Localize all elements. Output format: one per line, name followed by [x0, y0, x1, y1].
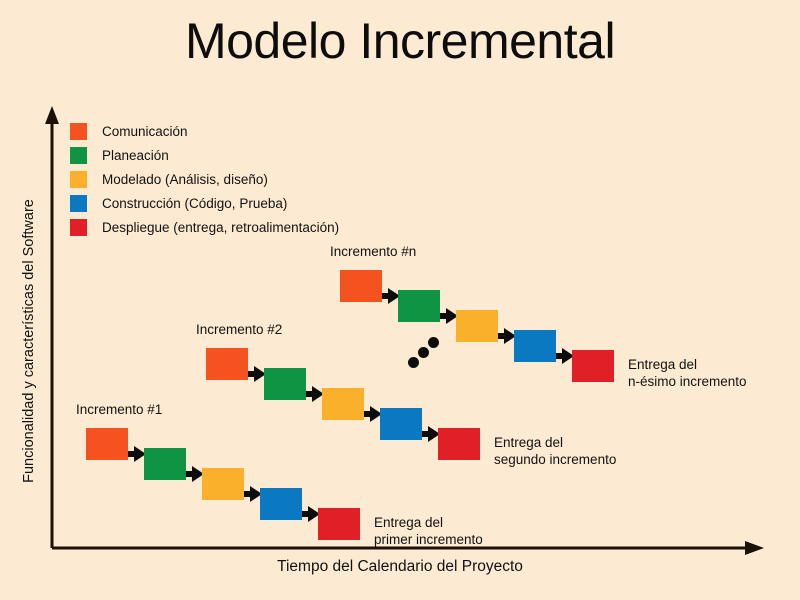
- legend-swatch-despliegue: [70, 219, 87, 236]
- ellipsis-dot-2: [418, 347, 429, 358]
- delivery-label-line1: Entrega del: [628, 356, 747, 373]
- phase-box: [206, 348, 248, 380]
- legend-swatch-modelado: [70, 171, 87, 188]
- y-axis-label: Funcionalidad y características del Soft…: [21, 161, 37, 521]
- legend-swatch-planeacion: [70, 147, 87, 164]
- x-axis-label: Tiempo del Calendario del Proyecto: [100, 558, 700, 576]
- phase-box: [572, 350, 614, 382]
- phase-box: [514, 330, 556, 362]
- legend-item-planeacion: Planeación: [70, 143, 339, 167]
- delivery-label: Entrega delprimer incremento: [374, 514, 483, 549]
- legend-item-construccion: Construcción (Código, Prueba): [70, 191, 339, 215]
- legend-item-modelado: Modelado (Análisis, diseño): [70, 167, 339, 191]
- legend: Comunicación Planeación Modelado (Anális…: [70, 119, 339, 239]
- legend-label-planeacion: Planeación: [102, 148, 169, 163]
- delivery-label-line1: Entrega del: [494, 434, 616, 451]
- legend-item-comunicacion: Comunicación: [70, 119, 339, 143]
- x-axis-arrowhead: [745, 541, 764, 555]
- ellipsis-dot-1: [408, 357, 419, 368]
- increment-label: Incremento #n: [330, 244, 416, 259]
- phase-box: [260, 488, 302, 520]
- delivery-label: Entrega deln-ésimo incremento: [628, 356, 747, 391]
- phase-box: [202, 468, 244, 500]
- phase-box: [318, 508, 360, 540]
- phase-box: [456, 310, 498, 342]
- legend-swatch-construccion: [70, 195, 87, 212]
- legend-item-despliegue: Despliegue (entrega, retroalimentación): [70, 215, 339, 239]
- phase-box: [264, 368, 306, 400]
- diagram-canvas: Modelo Incremental Funcionalidad y carac…: [0, 0, 800, 600]
- delivery-label-line2: segundo incremento: [494, 451, 616, 468]
- phase-box: [438, 428, 480, 460]
- phase-box: [322, 388, 364, 420]
- legend-label-despliegue: Despliegue (entrega, retroalimentación): [102, 220, 339, 235]
- increment-label: Incremento #2: [196, 322, 282, 337]
- legend-label-comunicacion: Comunicación: [102, 124, 188, 139]
- delivery-label-line2: primer incremento: [374, 531, 483, 548]
- phase-box: [398, 290, 440, 322]
- phase-box: [86, 428, 128, 460]
- legend-swatch-comunicacion: [70, 123, 87, 140]
- delivery-label-line2: n-ésimo incremento: [628, 373, 747, 390]
- phase-box: [380, 408, 422, 440]
- delivery-label-line1: Entrega del: [374, 514, 483, 531]
- ellipsis-dot-3: [428, 337, 439, 348]
- y-axis-arrowhead: [45, 106, 59, 124]
- legend-label-modelado: Modelado (Análisis, diseño): [102, 172, 268, 187]
- increment-label: Incremento #1: [76, 402, 162, 417]
- phase-box: [144, 448, 186, 480]
- phase-box: [340, 270, 382, 302]
- delivery-label: Entrega delsegundo incremento: [494, 434, 616, 469]
- legend-label-construccion: Construcción (Código, Prueba): [102, 196, 287, 211]
